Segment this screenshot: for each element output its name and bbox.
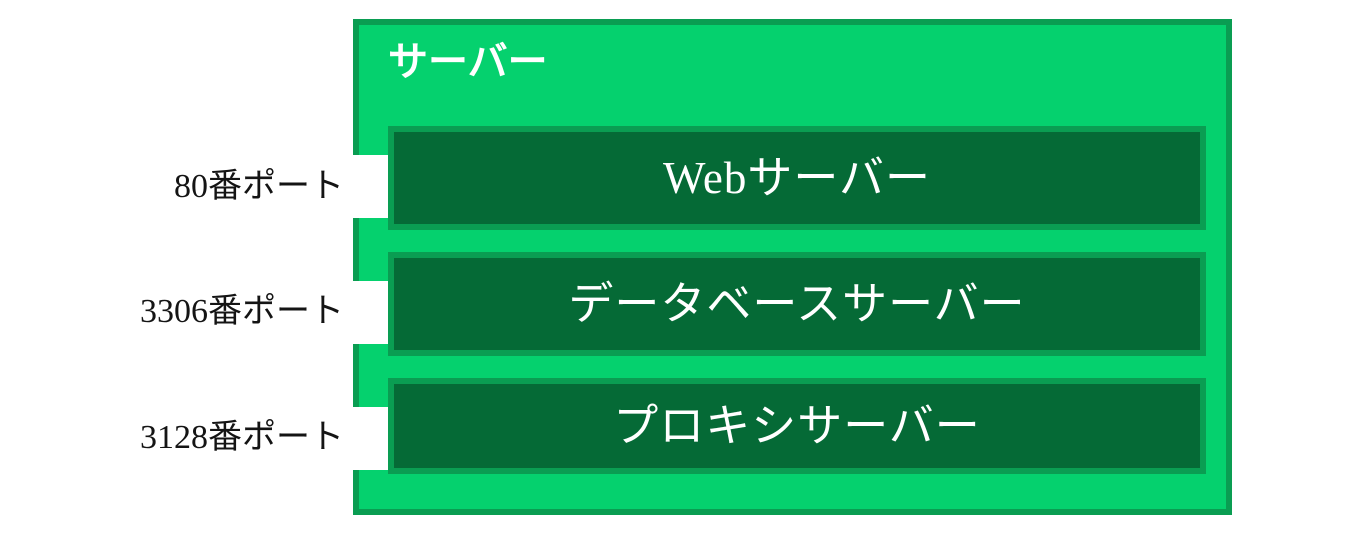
service-label-web-server: Webサーバー [663,156,931,201]
port-notch-proxy [353,407,389,470]
service-box-web-server: Webサーバー [388,126,1206,230]
service-label-proxy-server: プロキシサーバー [613,404,981,449]
port-notch-database [353,281,389,344]
port-label-proxy-server: 3128番ポート [140,421,344,455]
server-ports-diagram: サーバー Webサーバー データベースサーバー プロキシサーバー 80番ポート … [0,0,1354,541]
port-label-web-server: 80番ポート [174,170,344,204]
service-box-database-server: データベースサーバー [388,252,1206,356]
service-label-database-server: データベースサーバー [568,282,1025,327]
port-label-database-server: 3306番ポート [140,295,344,329]
service-box-proxy-server: プロキシサーバー [388,378,1206,474]
server-title: サーバー [388,42,548,82]
port-notch-web [353,155,389,218]
